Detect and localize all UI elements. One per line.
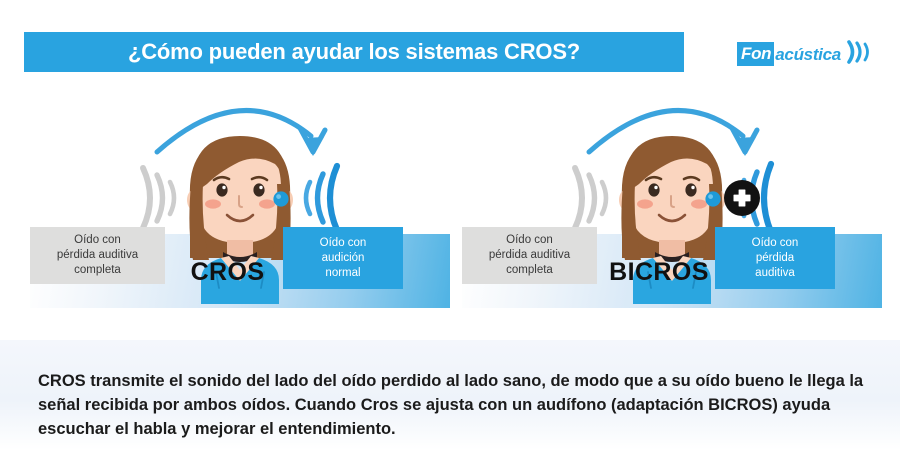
label-left-ear-bicros: Oído con pérdida auditiva completa	[462, 227, 597, 284]
label-line: pérdida auditiva	[489, 248, 570, 263]
panel-name-cros: CROS	[170, 258, 285, 287]
page-title: ¿Cómo pueden ayudar los sistemas CROS?	[128, 39, 580, 65]
infographic-page: ¿Cómo pueden ayudar los sistemas CROS? F…	[0, 0, 900, 450]
logo-word-text: acústica	[774, 45, 841, 64]
panels-row: Oído con pérdida auditiva completa Oído …	[0, 82, 900, 340]
panel-bicros: Oído con pérdida auditiva completa Oído …	[462, 82, 882, 332]
label-line: Oído con	[320, 236, 367, 251]
sound-wave-active-icon	[306, 166, 337, 230]
label-line: auditiva	[755, 266, 795, 281]
label-left-ear-cros: Oído con pérdida auditiva completa	[30, 227, 165, 284]
label-line: Oído con	[506, 233, 553, 248]
header: ¿Cómo pueden ayudar los sistemas CROS? F…	[0, 0, 900, 92]
label-line: completa	[74, 263, 121, 278]
label-line: Oído con	[752, 236, 799, 251]
panel-name-bicros: BICROS	[594, 258, 724, 287]
sound-wave-muted-icon	[143, 168, 174, 228]
page-title-bar: ¿Cómo pueden ayudar los sistemas CROS?	[24, 32, 684, 72]
label-line: pérdida auditiva	[57, 248, 138, 263]
logo-mark-text: Fon	[737, 42, 774, 66]
label-line: Oído con	[74, 233, 121, 248]
hearing-device-icon	[705, 191, 720, 206]
label-line: completa	[506, 263, 553, 278]
label-line: audición	[322, 251, 365, 266]
label-line: pérdida	[756, 251, 794, 266]
footer: CROS transmite el sonido del lado del oí…	[0, 340, 900, 450]
plus-badge-icon	[724, 180, 760, 216]
hearing-device-icon	[273, 191, 288, 206]
description-paragraph: CROS transmite el sonido del lado del oí…	[38, 369, 868, 441]
sound-wave-icon	[846, 39, 876, 70]
sound-wave-muted-icon	[575, 168, 606, 228]
label-right-ear-cros: Oído con audición normal	[283, 227, 403, 289]
panel-cros: Oído con pérdida auditiva completa Oído …	[30, 82, 450, 332]
label-right-ear-bicros: Oído con pérdida auditiva	[715, 227, 835, 289]
label-line: normal	[325, 266, 360, 281]
brand-logo: Fon acústica	[737, 40, 876, 68]
